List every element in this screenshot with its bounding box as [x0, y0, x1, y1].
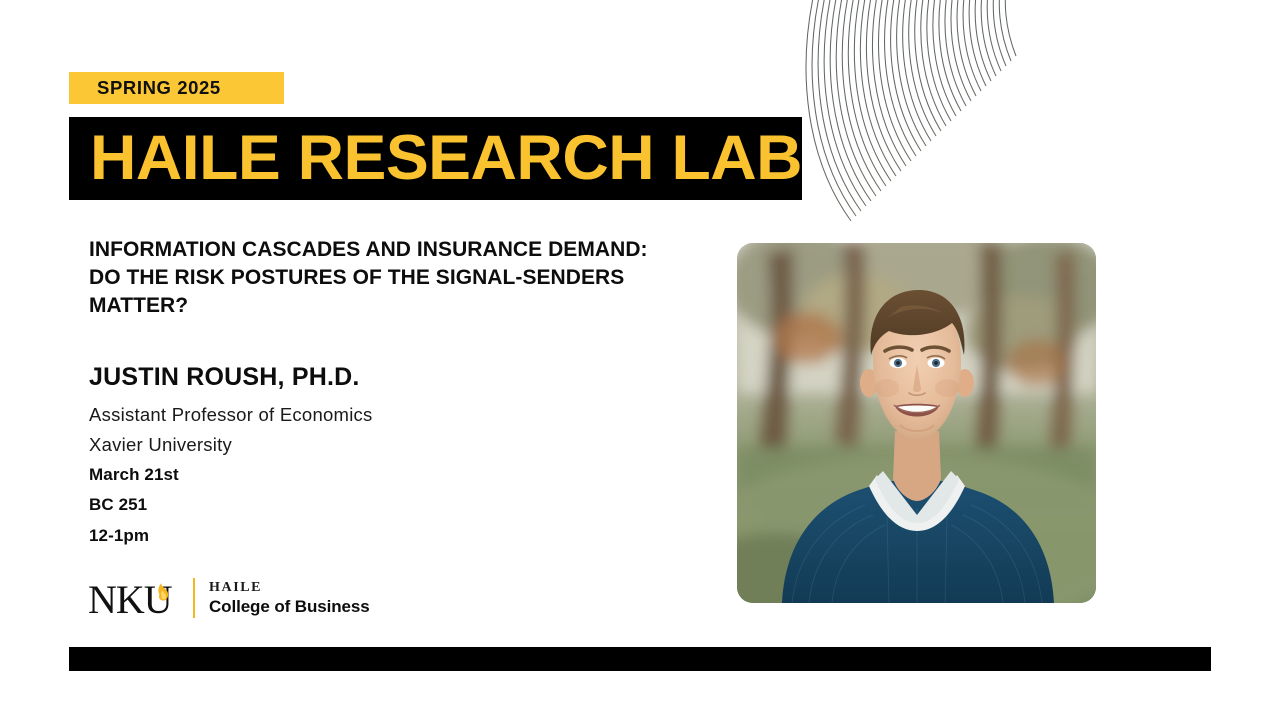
nku-haile-college-of-business-logo: NKU HAILE College of Business: [89, 572, 370, 624]
logo-college-name: College of Business: [209, 597, 370, 617]
concentric-wave-lines-decoration: [780, 0, 1280, 270]
event-details-column: INFORMATION CASCADES AND INSURANCE DEMAN…: [89, 236, 689, 551]
event-location: BC 251: [89, 490, 689, 520]
page-title: HAILE RESEARCH LAB: [90, 127, 802, 190]
bottom-black-rule: [69, 647, 1211, 671]
event-time: 12-1pm: [89, 521, 689, 551]
speaker-portrait: [737, 243, 1096, 603]
logo-unit-name: HAILE: [209, 579, 370, 597]
logo-divider: [193, 578, 195, 618]
logo-wordmark: HAILE College of Business: [209, 579, 370, 618]
speaker-position: Assistant Professor of Economics: [89, 400, 689, 430]
speaker-affiliation: Xavier University: [89, 430, 689, 460]
svg-text:NKU: NKU: [89, 577, 173, 622]
nku-wordmark: NKU: [89, 574, 187, 622]
page-title-bar: HAILE RESEARCH LAB: [69, 117, 802, 200]
talk-title: INFORMATION CASCADES AND INSURANCE DEMAN…: [89, 236, 674, 320]
season-badge-label: SPRING 2025: [97, 79, 221, 98]
event-date: March 21st: [89, 460, 689, 490]
season-badge: SPRING 2025: [69, 72, 284, 104]
speaker-block: JUSTIN ROUSH, PH.D. Assistant Professor …: [89, 362, 689, 551]
speaker-name: JUSTIN ROUSH, PH.D.: [89, 362, 689, 392]
